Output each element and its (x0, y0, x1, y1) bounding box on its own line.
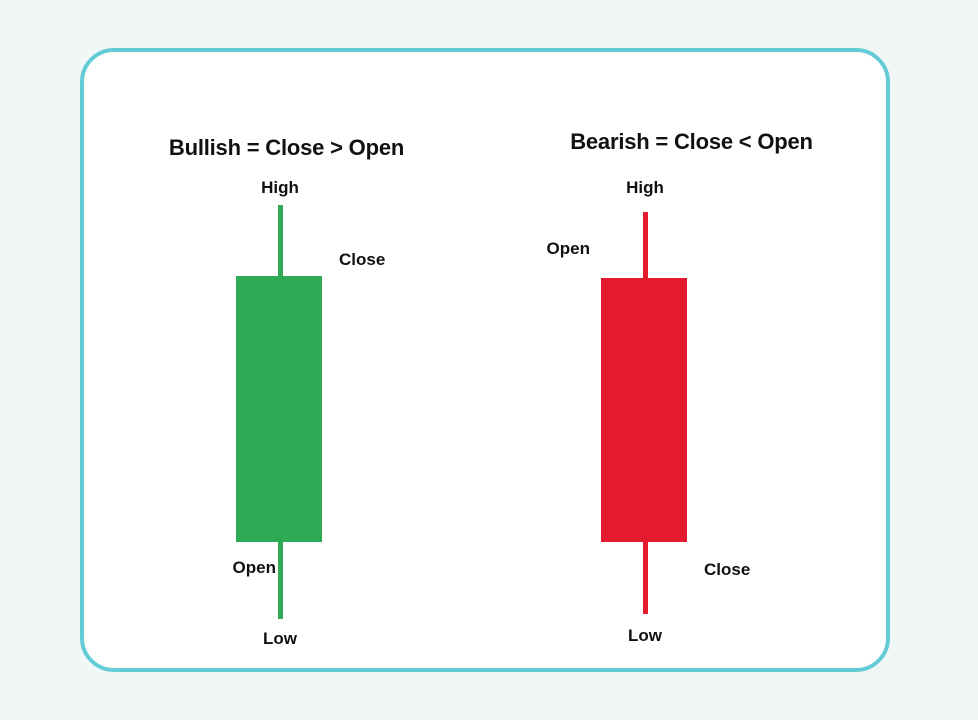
bearish-lower-wick (643, 541, 648, 614)
diagram-card: Bullish = Close > Open High Close Open L… (80, 48, 890, 672)
bullish-lower-wick (278, 541, 283, 619)
diagram-canvas: Bullish = Close > Open High Close Open L… (0, 0, 978, 720)
bearish-upper-wick (643, 212, 648, 278)
bullish-label-close: Close (339, 251, 385, 268)
bullish-label-open: Open (233, 559, 276, 576)
panel-bearish: Bearish = Close < Open High Open Close L… (489, 52, 894, 668)
bearish-candle-body (601, 278, 687, 542)
bearish-label-close: Close (704, 561, 750, 578)
bullish-candle-body (236, 276, 322, 542)
bullish-upper-wick (278, 205, 283, 277)
panel-bearish-title: Bearish = Close < Open (489, 129, 894, 155)
bearish-label-low: Low (628, 627, 662, 644)
bearish-label-high: High (626, 179, 664, 196)
bullish-label-low: Low (263, 630, 297, 647)
bearish-label-open: Open (547, 240, 590, 257)
bullish-label-high: High (261, 179, 299, 196)
panel-bullish: Bullish = Close > Open High Close Open L… (84, 52, 489, 668)
panel-bullish-title: Bullish = Close > Open (84, 135, 489, 161)
